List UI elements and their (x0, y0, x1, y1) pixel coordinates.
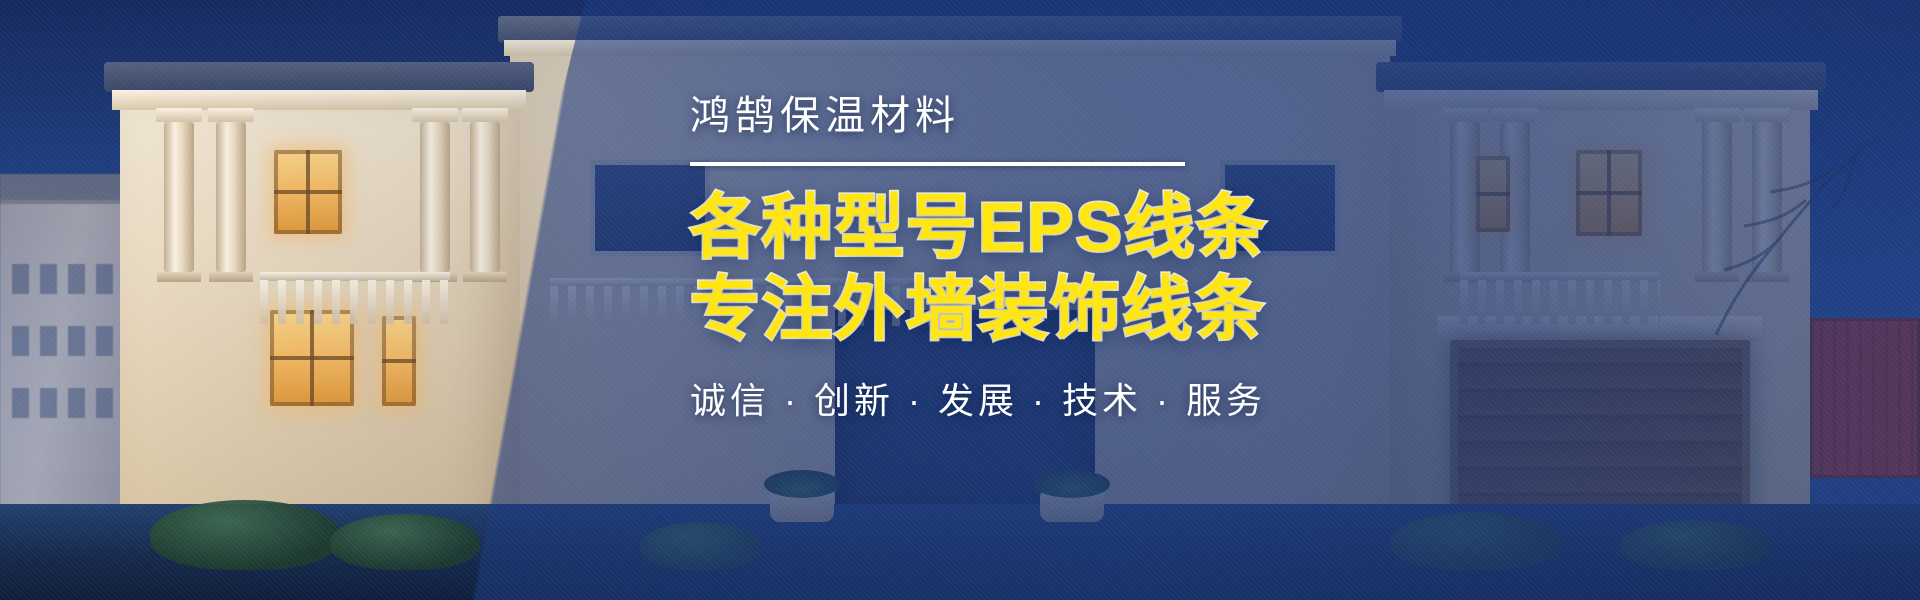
tagline: 诚信 · 创新 · 发展 · 技术 · 服务 (690, 383, 1510, 419)
headline-line-1: 各种型号EPS线条 (690, 188, 1510, 266)
banner-copy: 鸿鹄保温材料 各种型号EPS线条 专注外墙装饰线条 诚信 · 创新 · 发展 ·… (690, 96, 1510, 419)
headline-line-2: 专注外墙装饰线条 (690, 270, 1510, 348)
hero-banner: 鸿鹄保温材料 各种型号EPS线条 专注外墙装饰线条 诚信 · 创新 · 发展 ·… (0, 0, 1920, 600)
divider-rule (690, 162, 1185, 166)
brand-eyebrow: 鸿鹄保温材料 (690, 96, 1510, 136)
